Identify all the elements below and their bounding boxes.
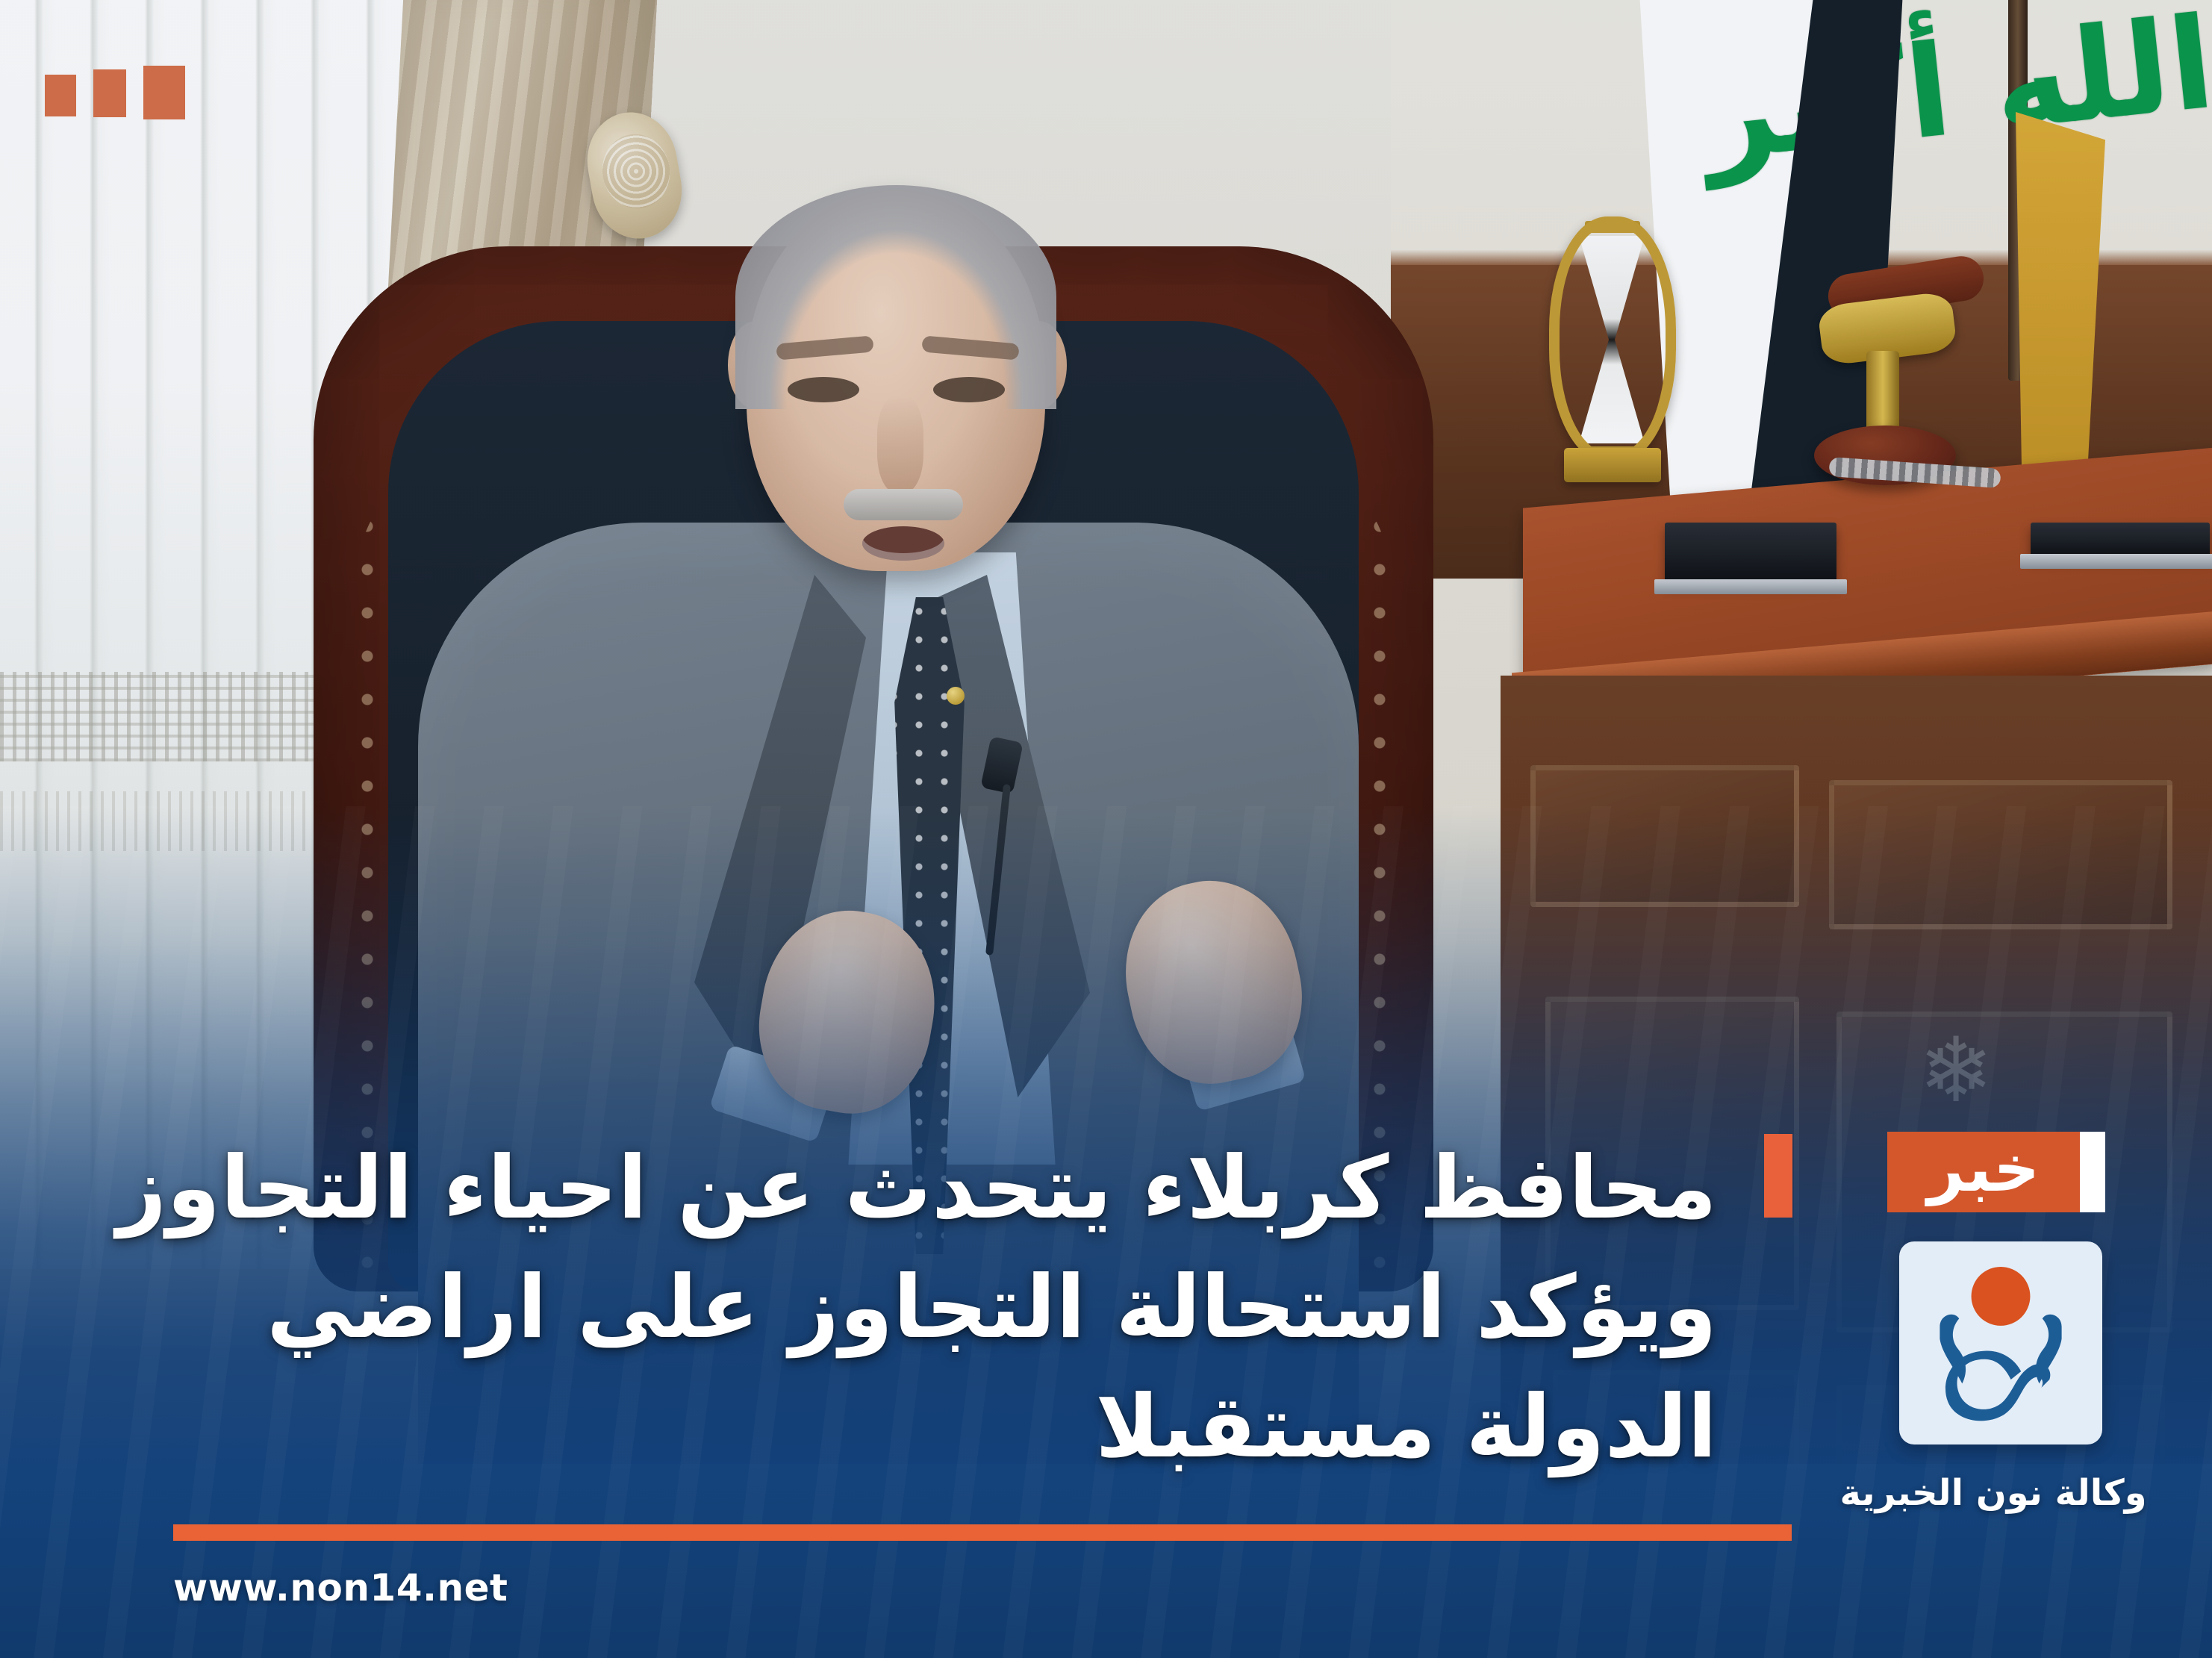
news-badge-label: خبر [1928, 1137, 2040, 1201]
noon-logo-svg [1899, 1241, 2102, 1444]
orange-divider [173, 1524, 1792, 1541]
logo-orange-circle [1972, 1267, 2031, 1326]
headline: محافظ كربلاء يتحدث عن احياء التجاوز ويؤك… [105, 1129, 1717, 1487]
agency-name: وكالة نون الخبرية [1784, 1472, 2202, 1514]
logo-noon-loop [1945, 1351, 2050, 1421]
news-badge-white-tick [2080, 1132, 2105, 1212]
headline-line-1: محافظ كربلاء يتحدث عن احياء التجاوز [105, 1129, 1717, 1248]
headline-line-3: الدولة مستقبلا [105, 1368, 1717, 1487]
three-bars-watermark-icon [45, 66, 185, 119]
news-badge: خبر [1887, 1132, 2080, 1212]
website-url: www.non14.net [173, 1566, 508, 1609]
headline-line-2: ويؤكد استحالة التجاوز على اراضي [105, 1248, 1717, 1368]
noon-news-agency-logo [1899, 1241, 2102, 1444]
orange-accent-bar [1764, 1134, 1792, 1218]
news-card: الله أكبر ❄ [0, 0, 2212, 1658]
